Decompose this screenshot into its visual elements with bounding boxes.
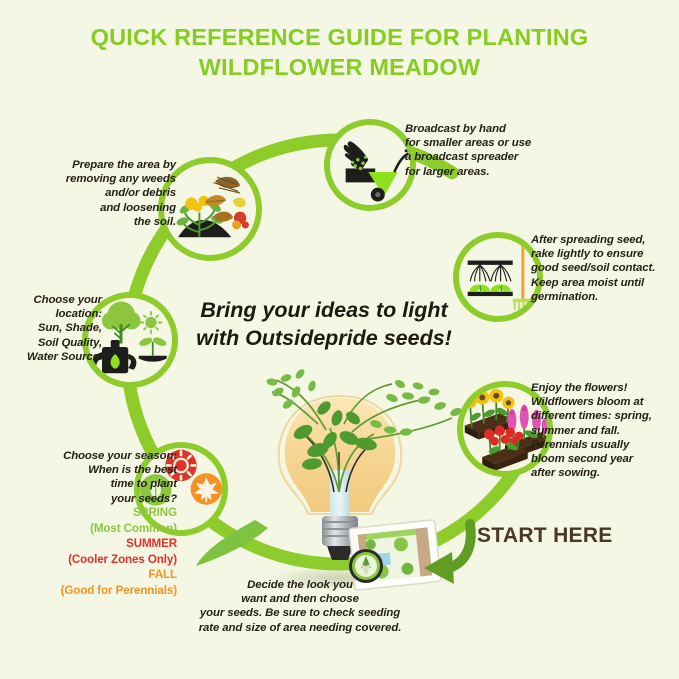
slogan-line2: with Outsidepride seeds!	[178, 324, 470, 352]
season-spring-name: SPRING	[12, 505, 177, 521]
caption-choose-location: Choose yourlocation:Sun, Shade,Soil Qual…	[6, 293, 102, 364]
caption-enjoy-flowers: Enjoy the flowers!Wildflowers bloom atdi…	[531, 381, 677, 480]
weeds-debris-soil-icon	[164, 163, 256, 255]
step-node-broadcast-seed[interactable]	[324, 119, 416, 211]
caption-rake-and-water: After spreading seed,rake lightly to ens…	[531, 233, 677, 304]
caption-choose-seeds: Decide the look youwant and then choosey…	[162, 578, 438, 635]
season-legend: SPRING (Most Common) SUMMER (Cooler Zone…	[12, 505, 177, 599]
caption-prepare-area: Prepare the area byremoving any weedsand…	[52, 158, 176, 229]
sprinkler-rake-icon	[459, 238, 537, 316]
caption-broadcast-seed: Broadcast by handfor smaller areas or us…	[405, 122, 555, 179]
start-here-label: START HERE	[477, 524, 613, 548]
caption-choose-season: Choose your season:When is the besttime …	[14, 449, 177, 506]
slogan-line1: Bring your ideas to light	[178, 296, 470, 324]
season-spring-note: (Most Common)	[12, 521, 177, 537]
season-fall-name: FALL	[12, 567, 177, 583]
brand-slogan: Bring your ideas to light with Outsidepr…	[178, 296, 470, 352]
infographic-canvas: QUICK REFERENCE GUIDE FOR PLANTING WILDF…	[0, 0, 679, 679]
sun-seedling-icon	[138, 312, 168, 362]
season-fall-note: (Good for Perennials)	[12, 583, 177, 599]
season-summer-note: (Cooler Zones Only)	[12, 552, 177, 568]
season-summer-name: SUMMER	[12, 536, 177, 552]
hand-broadcast-spreader-icon	[330, 125, 410, 205]
tree-icon	[102, 302, 141, 344]
